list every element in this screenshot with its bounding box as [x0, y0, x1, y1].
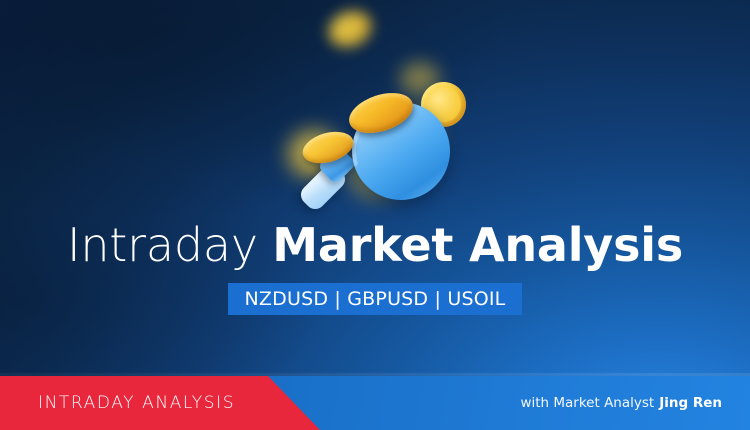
category-label: INTRADAY ANALYSIS — [38, 376, 235, 430]
page-title-bold: Market Analysis — [272, 218, 683, 272]
magnifier-coins-illustration — [250, 0, 510, 215]
instruments-badge: NZDUSD | GBPUSD | USOIL — [228, 283, 522, 315]
gold-coin-icon-blurred-top — [323, 5, 377, 53]
analyst-name: Jing Ren — [659, 395, 722, 411]
page-title-light: Intraday — [67, 218, 272, 272]
promo-banner: Intraday Market Analysis NZDUSD | GBPUSD… — [0, 0, 750, 430]
analyst-byline: with Market Analyst Jing Ren — [520, 376, 722, 430]
byline-prefix: with Market Analyst — [520, 395, 654, 411]
footer-bar: INTRADAY ANALYSIS with Market Analyst Ji… — [0, 376, 750, 430]
page-title: Intraday Market Analysis — [0, 218, 750, 272]
